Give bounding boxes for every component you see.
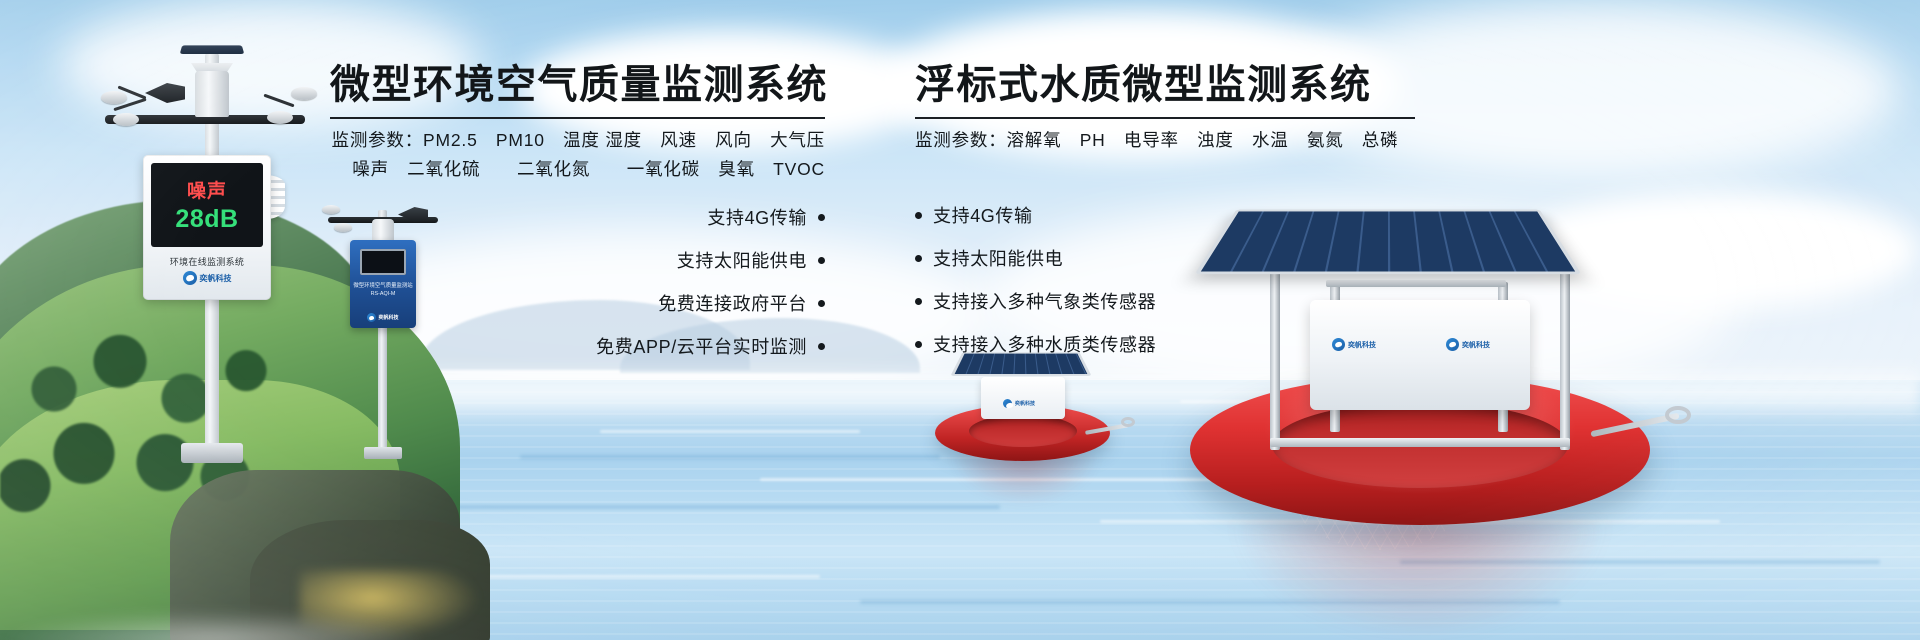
left-headline: 微型环境空气质量监测系统 (330, 62, 825, 109)
bullet-dot-icon (818, 343, 825, 350)
brand-name: 奕帆科技 (1015, 400, 1035, 407)
list-item: 支持接入多种水质类传感器 (915, 336, 1415, 354)
brand-logo: 奕帆科技 (1003, 399, 1035, 408)
list-item: 支持接入多种气象类传感器 (915, 293, 1415, 311)
anemometer-cup-icon (101, 91, 127, 104)
feature-text: 支持接入多种气象类传感器 (933, 293, 1156, 311)
frame-post (1560, 260, 1570, 450)
sensor-probe-head (1121, 417, 1135, 427)
shoreline-glow (0, 610, 430, 640)
right-divider (915, 117, 1415, 119)
list-item: 支持太阳能供电 (330, 252, 825, 270)
bullet-dot-icon (915, 255, 922, 262)
list-item: 支持4G传输 (330, 209, 825, 227)
station-caption: 环境在线监测系统 (143, 255, 271, 268)
bullet-dot-icon (818, 257, 825, 264)
left-feature-list: 支持4G传输 支持太阳能供电 免费连接政府平台 免费APP/云平台实时监测 (330, 209, 825, 356)
feature-text: 支持太阳能供电 (677, 252, 807, 270)
left-params-label: 监测参数： (332, 130, 424, 150)
feature-text: 支持接入多种水质类传感器 (933, 336, 1156, 354)
anemometer-arm (263, 94, 294, 108)
banner-stage: 噪声 28dB 环境在线监测系统 奕帆科技 微型环境空气质量监测站 RS-AQI… (0, 0, 1920, 640)
bullet-dot-icon (818, 300, 825, 307)
right-params-line1: 监测参数：溶解氧 PH 电导率 浊度 水温 氨氮 总磷 (915, 126, 1415, 154)
station-screen: 噪声 28dB (151, 163, 263, 247)
left-divider (330, 117, 825, 119)
noise-value: 28dB (175, 205, 238, 234)
brand-mark-icon (1446, 338, 1459, 351)
feature-text: 支持4G传输 (707, 209, 807, 227)
bullet-dot-icon (915, 298, 922, 305)
right-params-values1: 溶解氧 PH 电导率 浊度 水温 氨氮 总磷 (1007, 130, 1399, 150)
list-item: 免费连接政府平台 (330, 295, 825, 313)
wave-line (600, 430, 860, 433)
anemometer-cup-icon (291, 87, 317, 100)
right-feature-list: 支持4G传输 支持太阳能供电 支持接入多种气象类传感器 支持接入多种水质类传感器 (915, 207, 1415, 354)
rain-gauge-body (195, 71, 229, 117)
brand-name: 奕帆科技 (1462, 340, 1490, 350)
left-params-line1: 监测参数：PM2.5 PM10 温度 湿度 风速 风向 大气压 (330, 126, 825, 154)
anemometer-cup-icon (113, 113, 139, 126)
buoy-reflection (1230, 520, 1610, 640)
feature-text: 支持太阳能供电 (933, 250, 1063, 268)
left-params-line2: 噪声 二氧化硫 二氧化氮 一氧化碳 臭氧 TVOC (330, 155, 825, 183)
left-text-panel: 微型环境空气质量监测系统 监测参数：PM2.5 PM10 温度 湿度 风速 风向… (330, 62, 825, 381)
noise-label: 噪声 (187, 176, 227, 203)
list-item: 支持4G传输 (915, 207, 1415, 225)
station-display-panel: 噪声 28dB 环境在线监测系统 奕帆科技 (143, 155, 271, 300)
brand-logo: 奕帆科技 (143, 271, 271, 285)
buoy-ring-inner (969, 415, 1077, 447)
station-base (364, 447, 402, 459)
brand-mark-icon (183, 271, 197, 285)
wave-line (520, 455, 940, 459)
list-item: 支持太阳能供电 (915, 250, 1415, 268)
left-params-values1: PM2.5 PM10 温度 湿度 风速 风向 大气压 (423, 130, 825, 150)
brand-logo: 奕帆科技 (1446, 338, 1490, 351)
right-headline: 浮标式水质微型监测系统 (915, 62, 1415, 109)
feature-text: 免费连接政府平台 (658, 295, 807, 313)
bullet-dot-icon (915, 212, 922, 219)
feature-text: 支持4G传输 (933, 207, 1033, 225)
right-params-label: 监测参数： (915, 130, 1007, 150)
air-monitoring-station-large: 噪声 28dB 环境在线监测系统 奕帆科技 (95, 25, 345, 455)
right-text-panel: 浮标式水质微型监测系统 监测参数：溶解氧 PH 电导率 浊度 水温 氨氮 总磷 … (915, 62, 1415, 379)
feature-text: 免费APP/云平台实时监测 (596, 338, 807, 356)
frame-rail (1270, 438, 1570, 447)
solar-panel-icon (180, 45, 245, 54)
list-item: 免费APP/云平台实时监测 (330, 338, 825, 356)
brand-name: 奕帆科技 (200, 273, 232, 284)
brand-mark-icon (1003, 399, 1012, 408)
anemometer-cup-icon (267, 111, 293, 124)
sensor-probe-head (1665, 406, 1691, 424)
bullet-dot-icon (915, 341, 922, 348)
buoy-equipment-box: 奕帆科技 (981, 377, 1065, 419)
wind-vane-icon (145, 83, 185, 103)
station-base (181, 443, 243, 463)
bullet-dot-icon (818, 214, 825, 221)
